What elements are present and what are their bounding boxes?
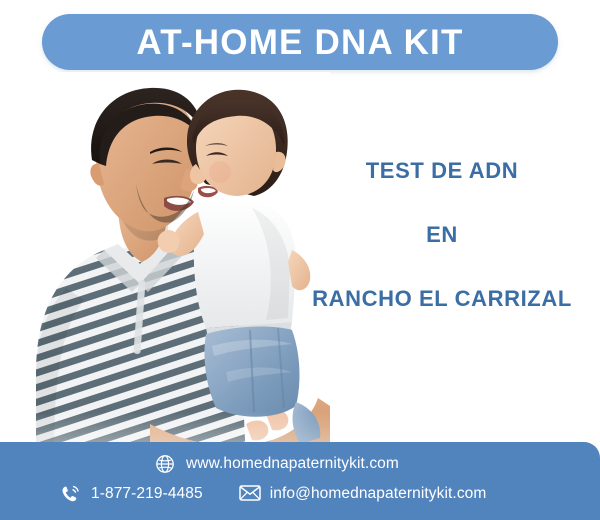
header-badge-label: AT-HOME DNA KIT [136,25,463,60]
headline-block: TEST DE ADN EN RANCHO EL CARRIZAL [296,160,588,310]
globe-icon [155,454,175,474]
contact-footer: www.homednapaternitykit.com 1-877-219-44… [0,442,600,520]
phone-contact-item[interactable]: 1-877-219-4485 [60,484,203,504]
envelope-icon [239,484,259,504]
footer-website-row: www.homednapaternitykit.com [155,454,399,474]
email-contact-item[interactable]: info@homednapaternitykit.com [239,484,487,504]
website-contact-item[interactable]: www.homednapaternitykit.com [155,454,399,474]
promo-graphic: AT-HOME DNA KIT [0,0,600,520]
headline-line-3: RANCHO EL CARRIZAL [296,288,588,310]
family-photo [0,72,330,460]
website-label: www.homednapaternitykit.com [186,455,399,473]
headline-line-1: TEST DE ADN [296,160,588,182]
phone-label: 1-877-219-4485 [91,485,203,503]
email-label: info@homednapaternitykit.com [270,485,487,503]
footer-phone-email-row: 1-877-219-4485 info@homednapaternitykit.… [60,484,486,504]
phone-icon [60,484,80,504]
headline-line-2: EN [296,224,588,246]
header-badge: AT-HOME DNA KIT [42,14,558,70]
